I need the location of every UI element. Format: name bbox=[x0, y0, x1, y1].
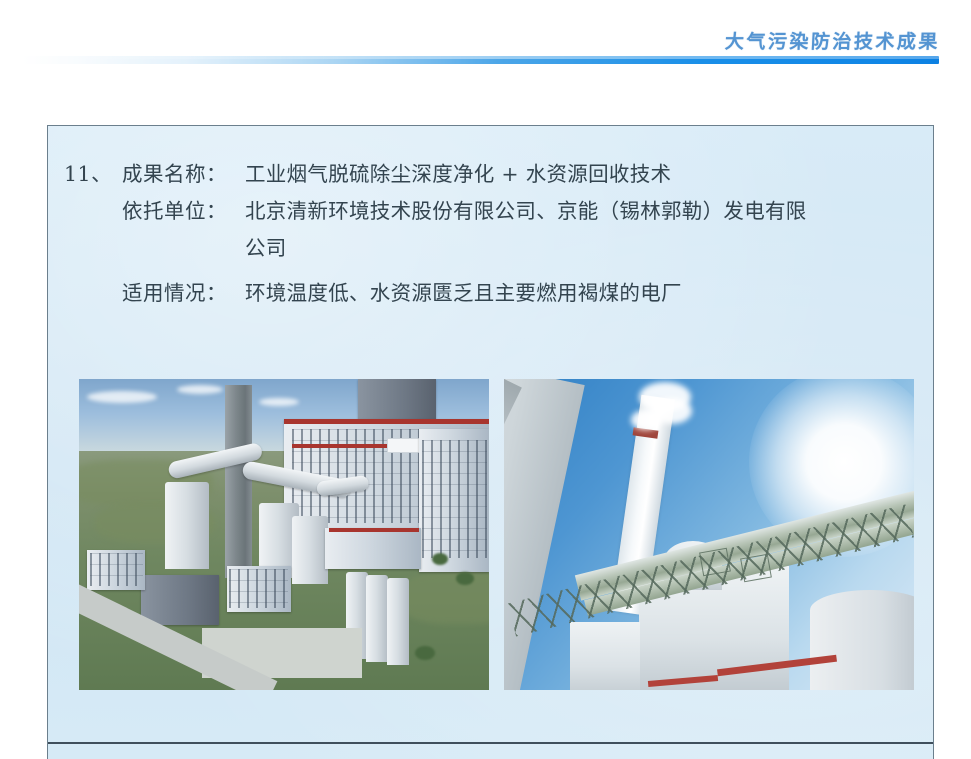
header-accent-rule-sheen bbox=[22, 56, 939, 59]
entry-value-organization-continued: 公司 bbox=[245, 230, 919, 267]
tree-cluster bbox=[456, 572, 474, 585]
entry-value-organization: 北京清新环境技术股份有限公司、京能（锡林郭勒）发电有限 bbox=[245, 193, 919, 230]
photo-plant-aerial bbox=[79, 379, 489, 690]
truss-support bbox=[740, 554, 772, 582]
page-header: 大气污染防治技术成果 bbox=[0, 0, 971, 72]
building-left-low bbox=[87, 550, 145, 590]
entry-index: 11、 bbox=[64, 156, 122, 193]
building-mid-low bbox=[227, 566, 291, 613]
page-title: 大气污染防治技术成果 bbox=[724, 27, 940, 54]
entry-row-applicability: 适用情况： 环境温度低、水资源匮乏且主要燃用褐煤的电厂 bbox=[64, 275, 919, 312]
entry-value-name: 工业烟气脱硫除尘深度净化 + 水资源回收技术 bbox=[245, 156, 919, 193]
truss-support bbox=[699, 548, 731, 576]
roof-trim-red bbox=[329, 528, 419, 532]
entry-text-block: 11、 成果名称： 工业烟气脱硫除尘深度净化 + 水资源回收技术 依托单位： 北… bbox=[64, 156, 919, 312]
tree-cluster bbox=[432, 553, 448, 565]
cloud-shape bbox=[259, 398, 299, 406]
coal-silo bbox=[387, 578, 409, 665]
field-patch bbox=[399, 572, 489, 624]
absorber-silo bbox=[165, 482, 209, 569]
window-grid bbox=[229, 569, 288, 607]
entry-row-name: 11、 成果名称： 工业烟气脱硫除尘深度净化 + 水资源回收技术 bbox=[64, 156, 919, 193]
cooling-tower bbox=[810, 590, 914, 690]
entry-row-organization-continued: 公司 bbox=[64, 230, 919, 267]
entry-value-applicability: 环境温度低、水资源匮乏且主要燃用褐煤的电厂 bbox=[245, 275, 919, 312]
entry-label-organization: 依托单位： bbox=[122, 193, 245, 230]
entry-label-name: 成果名称： bbox=[122, 156, 245, 193]
photo-strip bbox=[79, 379, 914, 690]
window-grid bbox=[90, 553, 143, 586]
photo-stack-upward bbox=[504, 379, 914, 690]
chimney-stack bbox=[225, 385, 252, 578]
service-building bbox=[570, 622, 640, 690]
window-grid bbox=[422, 440, 486, 557]
absorber-silo bbox=[292, 516, 328, 584]
roof-trim-red bbox=[284, 419, 489, 424]
entry-label-applicability: 适用情况： bbox=[122, 275, 245, 312]
coal-silo bbox=[366, 575, 388, 662]
card-section-divider bbox=[48, 742, 933, 744]
building-turbine-hall bbox=[325, 528, 421, 568]
building-foreground-dark bbox=[141, 575, 219, 625]
building-right-block bbox=[419, 429, 489, 572]
entry-row-organization: 依托单位： 北京清新环境技术股份有限公司、京能（锡林郭勒）发电有限 bbox=[64, 193, 919, 230]
content-card: 11、 成果名称： 工业烟气脱硫除尘深度净化 + 水资源回收技术 依托单位： 北… bbox=[47, 125, 934, 759]
